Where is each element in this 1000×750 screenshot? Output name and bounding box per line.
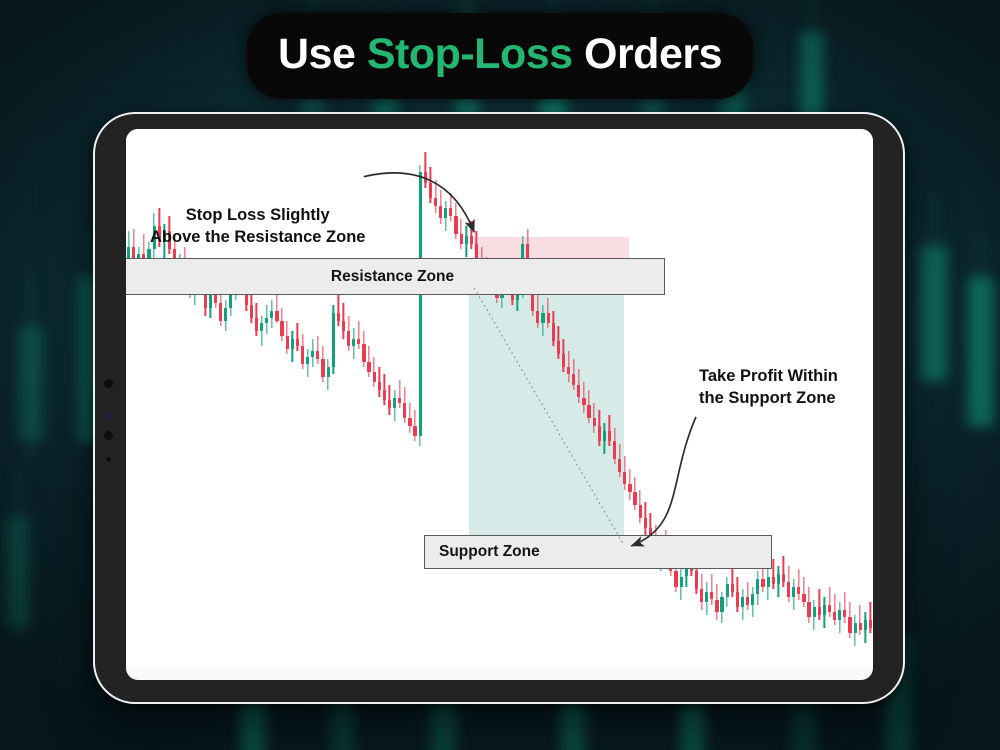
take-profit-arrow — [631, 417, 696, 546]
tablet-side-button-2[interactable] — [105, 414, 111, 419]
tablet-side-button-3[interactable] — [104, 431, 113, 440]
downtrend-dotted-line — [474, 288, 623, 544]
page-title: Use Stop-Loss Orders — [256, 22, 744, 90]
stop-loss-arrow — [364, 173, 474, 232]
title-part-2: Orders — [573, 30, 722, 78]
title-part-1: Use — [278, 30, 367, 78]
tablet-device: Resistance Zone Support Zone Stop Loss S… — [93, 112, 905, 704]
take-profit-annotation: Take Profit Within the Support Zone — [699, 366, 838, 410]
tablet-screen: Resistance Zone Support Zone Stop Loss S… — [126, 129, 873, 680]
stop-loss-annotation: Stop Loss Slightly Above the Resistance … — [150, 205, 365, 249]
tablet-side-button-4[interactable] — [106, 457, 111, 462]
title-banner: Use Stop-Loss Orders — [0, 22, 1000, 90]
candlestick-chart: Resistance Zone Support Zone Stop Loss S… — [126, 129, 873, 666]
tablet-side-button-1[interactable] — [104, 379, 113, 388]
title-highlight: Stop-Loss — [367, 30, 573, 78]
